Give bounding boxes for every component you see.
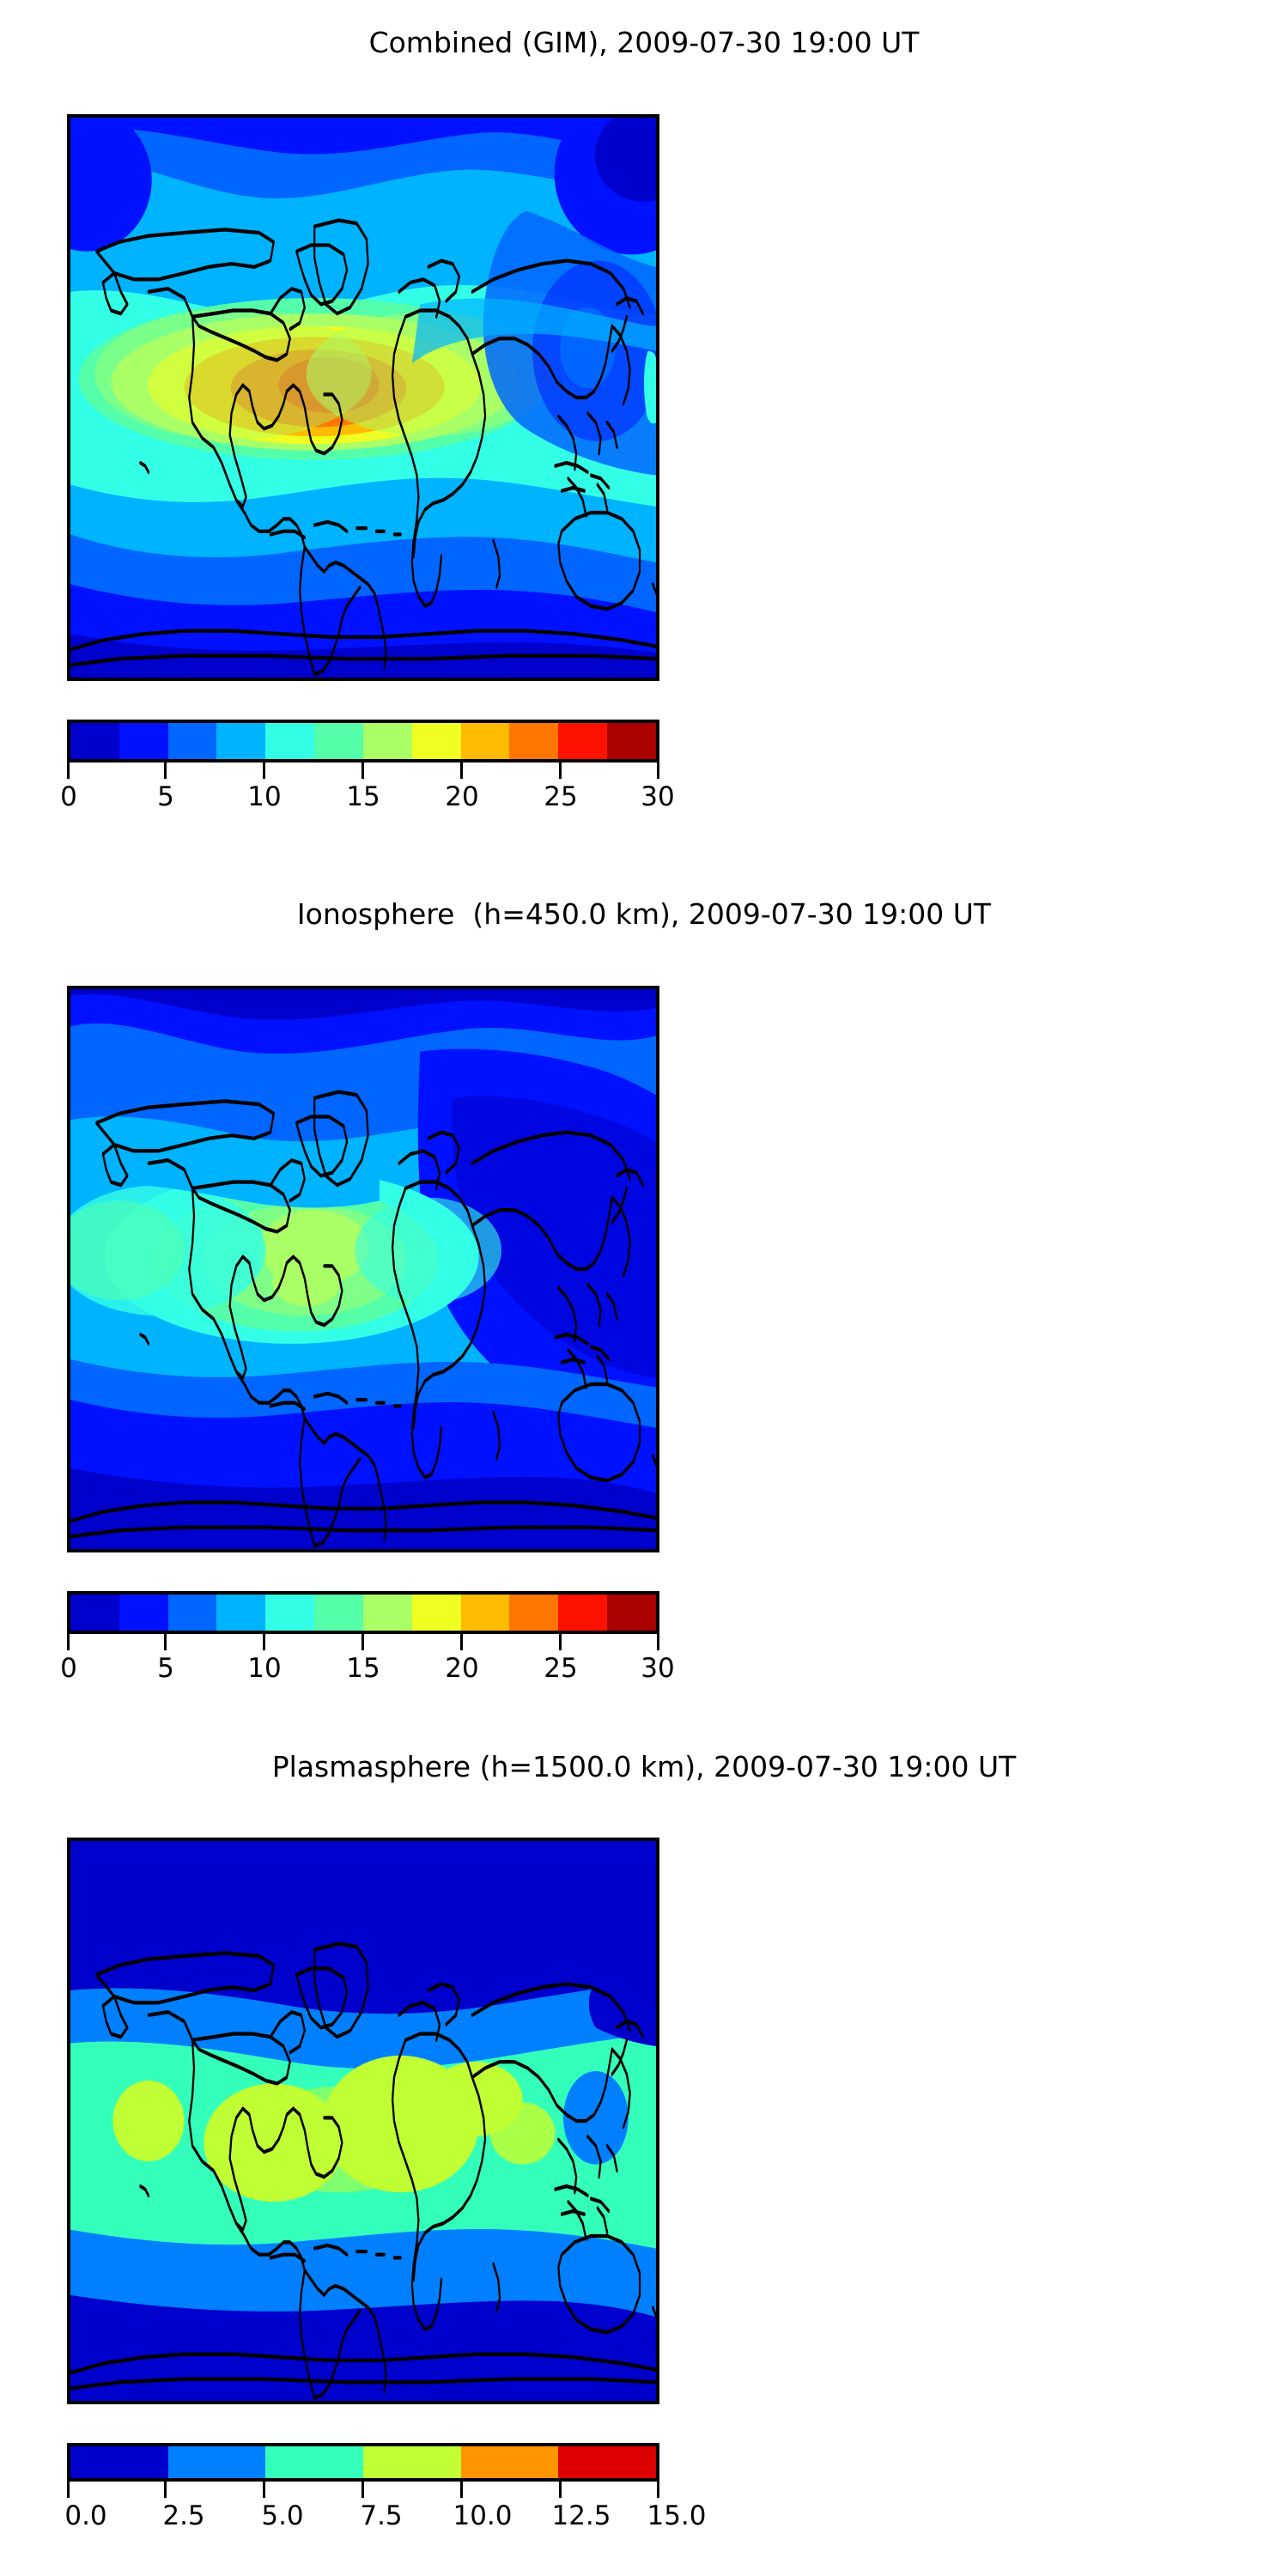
colorbar-band xyxy=(558,723,607,759)
colorbar-combined: 0 5 10 15 20 25 30 xyxy=(67,720,659,823)
colorbar-tick-label: 0 xyxy=(60,781,77,812)
colorbar-band xyxy=(168,1595,217,1631)
colorbar-band xyxy=(216,723,265,759)
colorbar-band xyxy=(558,1595,607,1631)
colorbar-band xyxy=(363,2446,461,2478)
panel-title-combined: Combined (GIM), 2009-07-30 19:00 UT xyxy=(0,26,1288,59)
colorbar-tick-label: 2.5 xyxy=(162,2500,204,2531)
colorbar-band xyxy=(509,723,558,759)
colorbar-gradient-plasmasphere xyxy=(67,2443,659,2482)
colorbar-band xyxy=(70,1595,119,1631)
map-svg-combined xyxy=(70,118,656,677)
colorbar-gradient-combined xyxy=(67,720,659,762)
colorbar-band xyxy=(412,723,461,759)
colorbar-tick xyxy=(460,2482,463,2498)
colorbar-tick-label: 20 xyxy=(445,781,478,812)
colorbar-tick xyxy=(263,1634,265,1650)
colorbar-tick xyxy=(67,762,70,779)
colorbar-band xyxy=(70,723,119,759)
colorbar-tick-label: 0.0 xyxy=(64,2500,106,2531)
colorbar-tick xyxy=(164,762,167,779)
panel-title-plasmasphere: Plasmasphere (h=1500.0 km), 2009-07-30 1… xyxy=(0,1750,1288,1783)
colorbar-tick xyxy=(164,1634,167,1650)
colorbar-tick-label: 10 xyxy=(247,1653,281,1684)
colorbar-band xyxy=(265,1595,314,1631)
colorbar-band xyxy=(607,723,656,759)
colorbar-tick-label: 15 xyxy=(346,1653,380,1684)
colorbar-band xyxy=(168,2446,266,2478)
colorbar-band xyxy=(314,1595,363,1631)
map-plasmasphere-1500 xyxy=(67,1838,659,2404)
colorbar-tick-label: 25 xyxy=(544,781,577,812)
colorbar-tick-label: 30 xyxy=(641,1653,674,1684)
colorbar-tick xyxy=(657,762,659,779)
panel-title-ionosphere: Ionosphere (h=450.0 km), 2009-07-30 19:0… xyxy=(0,897,1288,931)
colorbar-tick xyxy=(263,762,265,779)
colorbar-tick-label: 12.5 xyxy=(551,2500,611,2531)
panel-combined-gim: Combined (GIM), 2009-07-30 19:00 UT xyxy=(0,0,1288,859)
colorbar-tick-label: 0 xyxy=(60,1653,77,1684)
colorbar-band xyxy=(607,1595,656,1631)
colorbar-tick xyxy=(67,2482,70,2498)
map-svg-ionosphere xyxy=(70,989,656,1549)
colorbar-ticks-combined: 0 5 10 15 20 25 30 xyxy=(67,762,659,823)
colorbar-band xyxy=(461,1595,510,1631)
colorbar-tick xyxy=(559,2482,562,2498)
colorbar-band xyxy=(119,723,168,759)
colorbar-ticks-plasmasphere: 0.0 2.5 5.0 7.5 10.0 12.5 15.0 xyxy=(67,2482,659,2542)
colorbar-tick xyxy=(559,762,562,779)
colorbar-band xyxy=(363,1595,412,1631)
colorbar-band xyxy=(265,723,314,759)
colorbar-band xyxy=(509,1595,558,1631)
colorbar-tick-label: 30 xyxy=(641,781,674,812)
colorbar-tick xyxy=(657,2482,659,2498)
colorbar-tick-label: 10 xyxy=(247,781,281,812)
colorbar-tick xyxy=(460,1634,463,1650)
colorbar-tick-label: 10.0 xyxy=(453,2500,512,2531)
colorbar-tick-label: 15.0 xyxy=(647,2500,706,2531)
colorbar-band xyxy=(363,723,412,759)
colorbar-tick xyxy=(361,2482,364,2498)
colorbar-band xyxy=(119,1595,168,1631)
colorbar-tick xyxy=(657,1634,659,1650)
colorbar-ticks-ionosphere: 0 5 10 15 20 25 30 xyxy=(67,1634,659,1694)
tec-map-figure: Combined (GIM), 2009-07-30 19:00 UT xyxy=(0,0,1288,2576)
colorbar-band xyxy=(558,2446,656,2478)
panel-ionosphere-450: Ionosphere (h=450.0 km), 2009-07-30 19:0… xyxy=(0,859,1288,1717)
colorbar-gradient-ionosphere xyxy=(67,1591,659,1634)
colorbar-tick xyxy=(67,1634,70,1650)
colorbar-tick-label: 5 xyxy=(157,1653,174,1684)
colorbar-band xyxy=(461,2446,559,2478)
colorbar-band xyxy=(461,723,510,759)
map-svg-plasmasphere xyxy=(70,1841,656,2401)
map-ionosphere-450 xyxy=(67,986,659,1552)
colorbar-tick-label: 7.5 xyxy=(360,2500,402,2531)
colorbar-tick-label: 5 xyxy=(157,781,174,812)
colorbar-tick xyxy=(164,2482,167,2498)
colorbar-tick xyxy=(361,1634,364,1650)
panel-plasmasphere-1500: Plasmasphere (h=1500.0 km), 2009-07-30 1… xyxy=(0,1717,1288,2576)
colorbar-band xyxy=(314,723,363,759)
map-combined-gim xyxy=(67,114,659,681)
colorbar-band xyxy=(216,1595,265,1631)
colorbar-tick-label: 20 xyxy=(445,1653,478,1684)
colorbar-band xyxy=(265,2446,363,2478)
colorbar-tick xyxy=(559,1634,562,1650)
colorbar-plasmasphere: 0.0 2.5 5.0 7.5 10.0 12.5 15.0 xyxy=(67,2443,659,2546)
colorbar-tick-label: 5.0 xyxy=(261,2500,303,2531)
colorbar-tick xyxy=(460,762,463,779)
colorbar-band xyxy=(168,723,217,759)
colorbar-band xyxy=(70,2446,168,2478)
colorbar-tick xyxy=(361,762,364,779)
colorbar-tick xyxy=(263,2482,265,2498)
colorbar-tick-label: 15 xyxy=(346,781,380,812)
colorbar-tick-label: 25 xyxy=(544,1653,577,1684)
colorbar-band xyxy=(412,1595,461,1631)
colorbar-ionosphere: 0 5 10 15 20 25 30 xyxy=(67,1591,659,1694)
